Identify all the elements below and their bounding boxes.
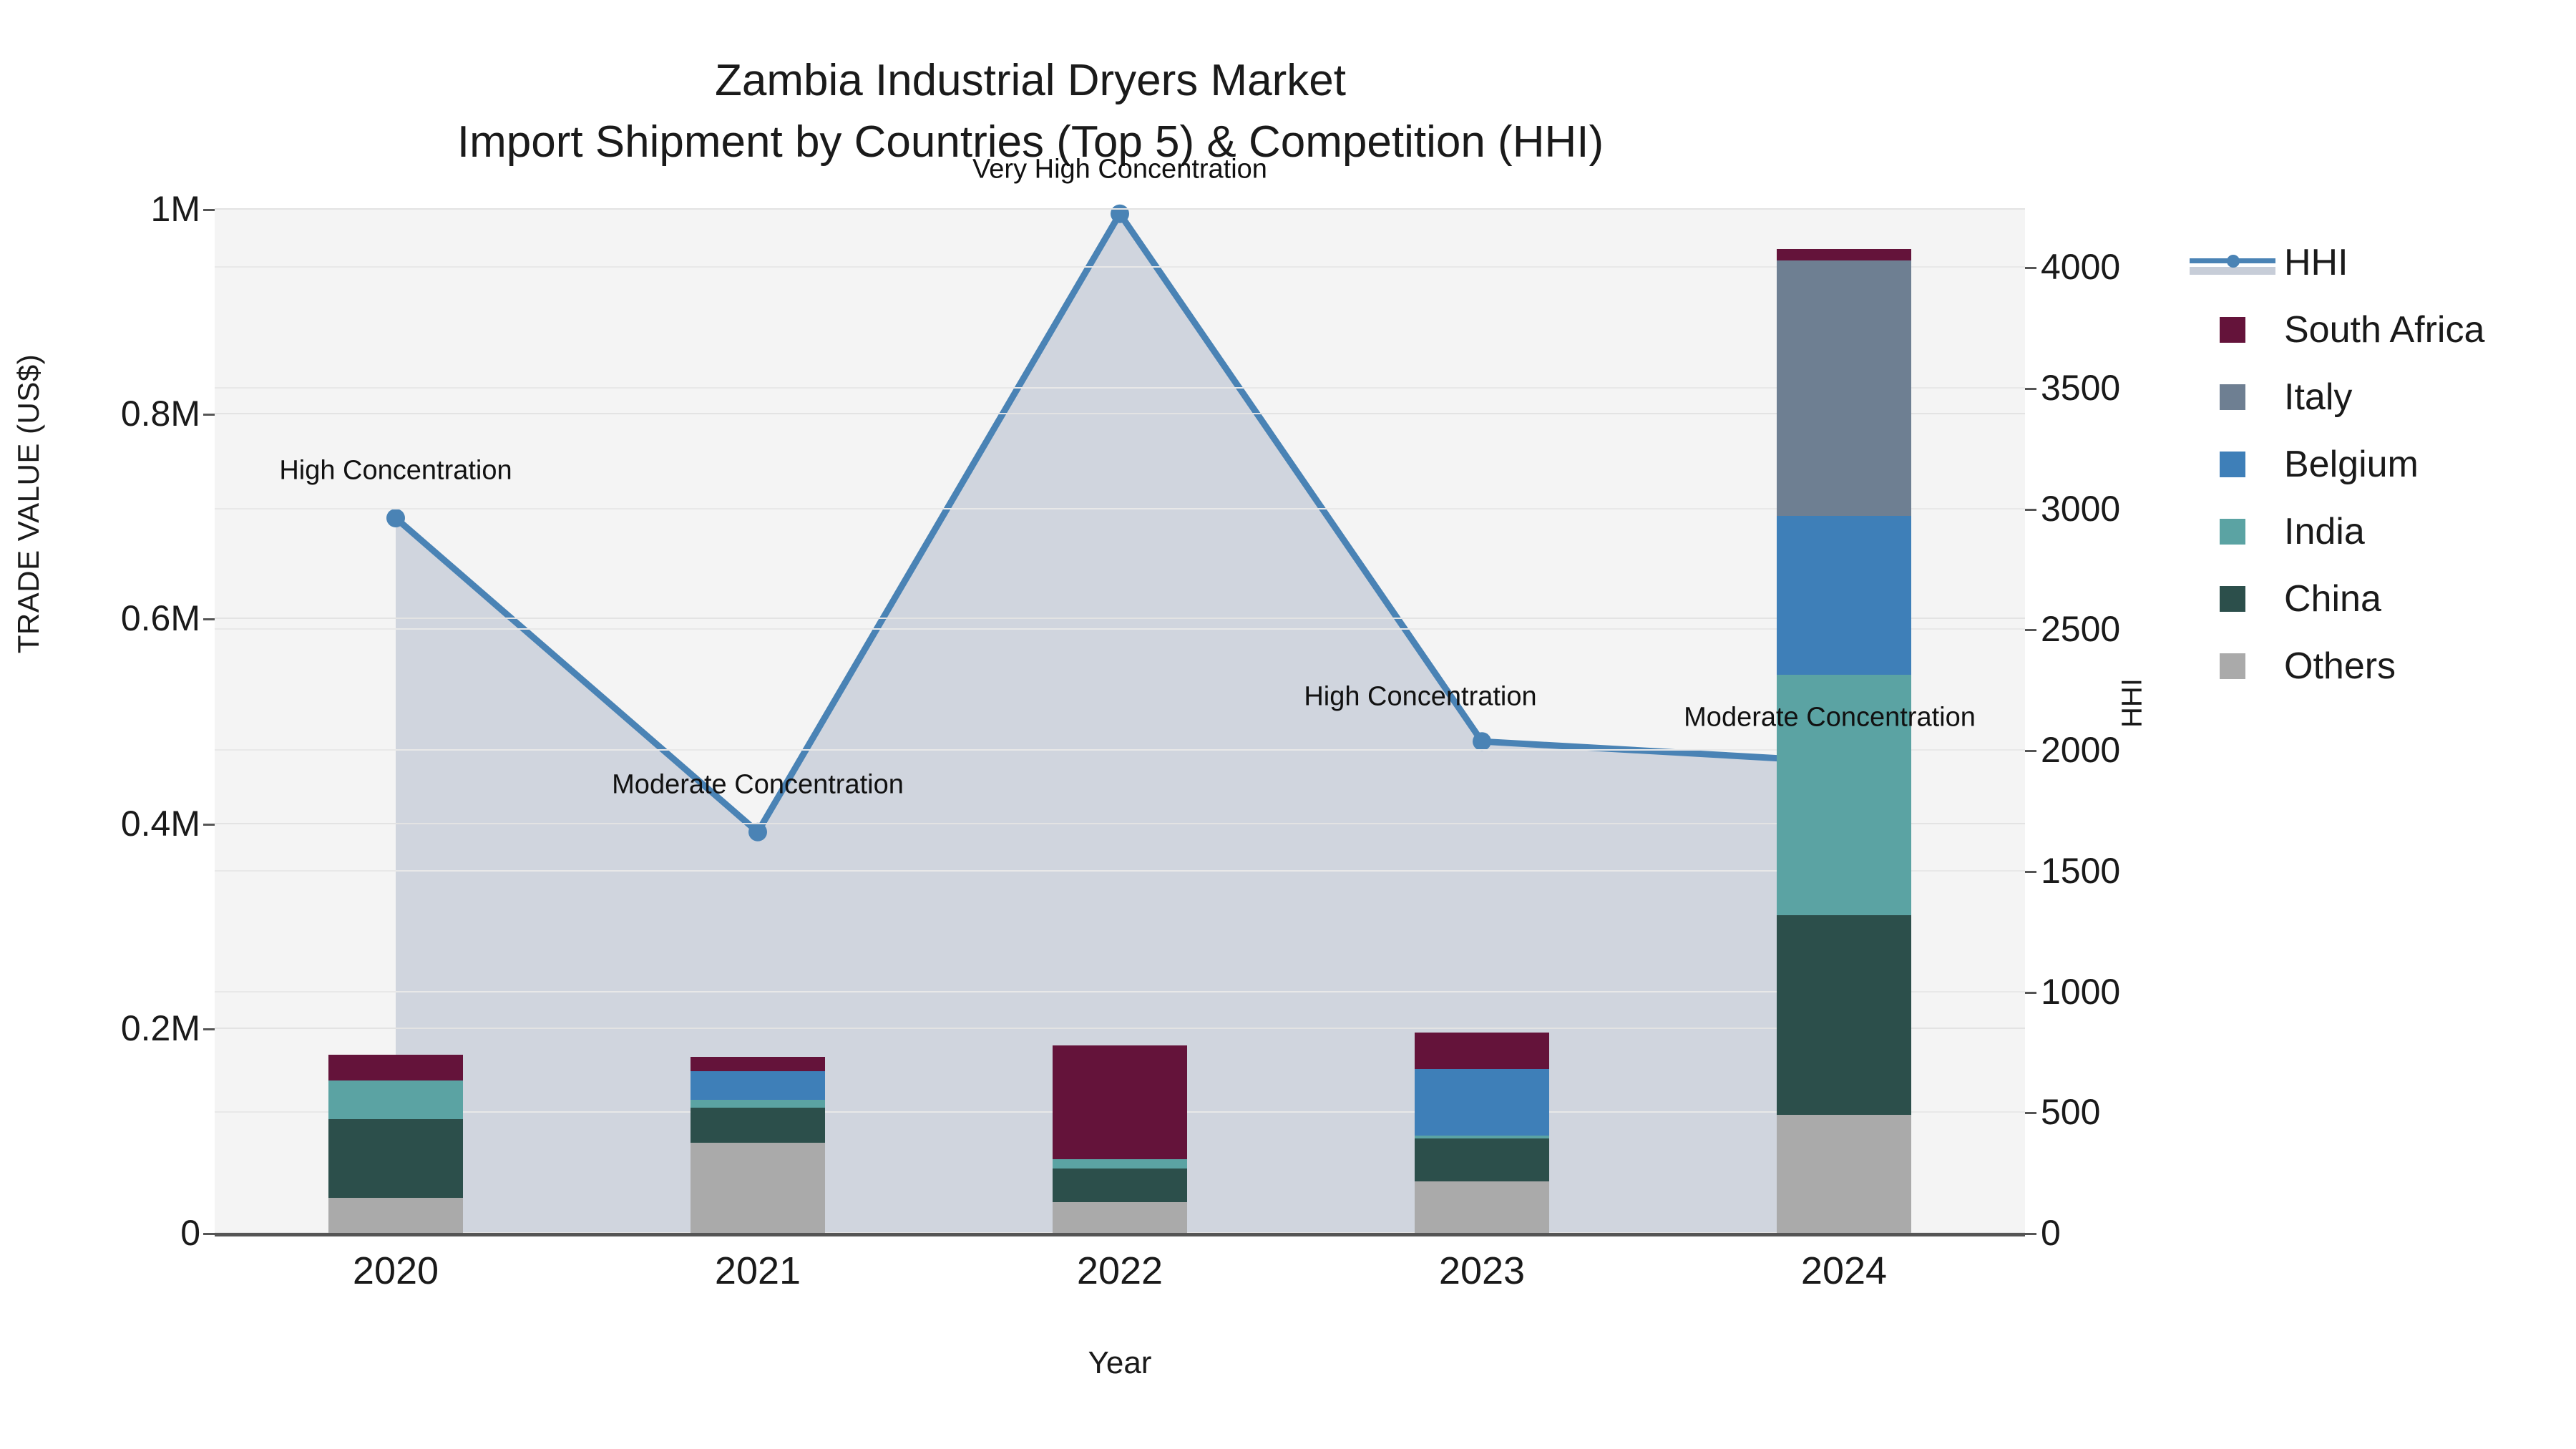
y-tick-mark-right [2025,871,2036,873]
gridline [215,618,2025,619]
gridline [215,387,2025,389]
hhi-data-point[interactable] [386,509,405,527]
bar-segment[interactable] [1415,1181,1548,1233]
legend-item[interactable]: Italy [2190,364,2576,431]
concentration-annotation: High Concentration [279,456,512,487]
chart-canvas: Zambia Industrial Dryers Market Import S… [0,0,2576,1449]
gridline [215,823,2025,824]
x-tick-label: 2024 [1801,1249,1887,1293]
gridline [215,208,2025,210]
legend-item[interactable]: Others [2190,633,2576,700]
bar-segment[interactable] [1415,1138,1548,1181]
hhi-data-point[interactable] [748,823,767,841]
concentration-annotation: Moderate Concentration [612,769,904,800]
y-tick-label-right: 1000 [2041,971,2120,1013]
bar-segment[interactable] [691,1100,824,1108]
bar-segment[interactable] [691,1108,824,1143]
concentration-annotation: Moderate Concentration [1684,702,1976,733]
legend-swatch [2220,653,2245,679]
y-tick-label-right: 0 [2041,1212,2061,1254]
bar-segment[interactable] [1415,1069,1548,1136]
bar-segment[interactable] [1777,516,1911,675]
legend-swatch [2220,317,2245,343]
legend-line-marker [2190,250,2275,275]
gridline [215,991,2025,992]
legend-label: Others [2284,645,2396,688]
bar-segment[interactable] [1415,1033,1548,1070]
legend-item[interactable]: HHI [2190,229,2576,296]
legend-swatch [2220,586,2245,612]
y-tick-mark-right [2025,629,2036,631]
legend-item[interactable]: Belgium [2190,431,2576,498]
legend-item[interactable]: South Africa [2190,296,2576,364]
bar-segment[interactable] [691,1143,824,1233]
y-tick-mark-left [203,209,215,211]
legend-item[interactable]: China [2190,565,2576,633]
y-tick-mark-left [203,1233,215,1235]
gridline [215,870,2025,872]
gridline [215,266,2025,268]
bar-segment[interactable] [691,1057,824,1071]
y-tick-mark-right [2025,992,2036,994]
y-tick-mark-left [203,1028,215,1030]
hhi-data-point[interactable] [1473,732,1491,751]
chart-title: Zambia Industrial Dryers Market [0,50,2061,112]
legend-label: Italy [2284,376,2352,419]
y-tick-mark-right [2025,1112,2036,1114]
y-tick-label-right: 3500 [2041,367,2120,409]
y-tick-mark-left [203,824,215,826]
y-tick-mark-right [2025,388,2036,390]
bar-segment[interactable] [1777,1115,1911,1233]
gridline [215,508,2025,509]
concentration-annotation: High Concentration [1304,682,1536,713]
chart-legend: HHISouth AfricaItalyBelgiumIndiaChinaOth… [2190,229,2576,700]
y-tick-label-left: 0.8M [121,393,200,434]
y-tick-mark-right [2025,509,2036,511]
bar-segment[interactable] [328,1080,462,1119]
y-tick-label-right: 2000 [2041,729,2120,771]
bar-segment[interactable] [328,1055,462,1080]
legend-label: Belgium [2284,443,2419,486]
legend-label: India [2284,510,2365,553]
y-tick-label-left: 0 [180,1212,200,1254]
y-tick-label-right: 2500 [2041,608,2120,650]
bar-segment[interactable] [328,1119,462,1198]
y-tick-label-right: 500 [2041,1091,2100,1133]
y-tick-mark-left [203,618,215,620]
y-tick-label-right: 3000 [2041,488,2120,530]
bar-segment[interactable] [328,1198,462,1233]
x-tick-label: 2020 [353,1249,439,1293]
y-tick-mark-left [203,414,215,416]
gridline [215,1028,2025,1029]
legend-swatch [2220,384,2245,410]
legend-label: HHI [2284,241,2348,284]
x-axis-spine [215,1233,2025,1236]
bar-segment[interactable] [1777,915,1911,1115]
legend-swatch [2220,519,2245,545]
y-tick-mark-right [2025,750,2036,752]
bar-segment[interactable] [1053,1202,1186,1233]
x-axis-label: Year [215,1345,2025,1381]
y-axis-label-right: HHI [2117,632,2149,775]
bar-segment[interactable] [1053,1159,1186,1169]
bar-segment[interactable] [1053,1169,1186,1202]
gridline [215,749,2025,751]
legend-label: China [2284,577,2381,620]
legend-item[interactable]: India [2190,498,2576,565]
bar-segment[interactable] [1415,1136,1548,1138]
legend-swatch [2220,452,2245,477]
x-tick-label: 2022 [1077,1249,1163,1293]
bar-segment[interactable] [691,1071,824,1100]
bar-segment[interactable] [1053,1045,1186,1159]
y-tick-label-left: 0.4M [121,803,200,844]
y-tick-label-left: 0.6M [121,597,200,639]
legend-label: South Africa [2284,308,2484,351]
gridline [215,628,2025,630]
gridline [215,413,2025,414]
y-tick-mark-right [2025,267,2036,269]
y-axis-label-left: TRADE VALUE (US$) [11,253,46,754]
x-tick-label: 2021 [715,1249,801,1293]
bar-segment[interactable] [1777,249,1911,260]
y-tick-label-left: 0.2M [121,1008,200,1049]
x-tick-label: 2023 [1439,1249,1525,1293]
hhi-data-point[interactable] [1111,205,1129,223]
y-tick-mark-right [2025,1233,2036,1235]
bar-segment[interactable] [1777,260,1911,517]
y-tick-label-right: 1500 [2041,850,2120,892]
y-tick-label-left: 1M [151,188,200,230]
concentration-annotation: Very High Concentration [972,154,1267,185]
y-tick-label-right: 4000 [2041,246,2120,288]
